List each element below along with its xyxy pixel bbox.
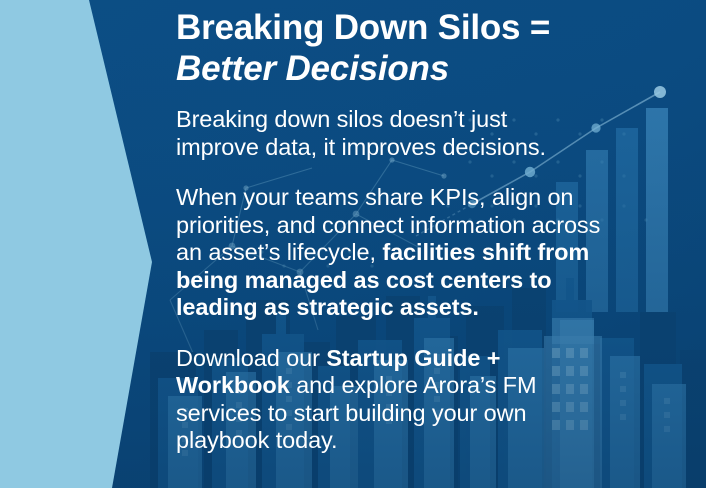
chevron-shape <box>0 0 152 488</box>
body-paragraph-1: Breaking down silos doesn’t just improve… <box>176 106 576 161</box>
content-column: Breaking Down Silos = Better Decisions B… <box>176 0 646 488</box>
promo-banner: Breaking Down Silos = Better Decisions B… <box>0 0 706 488</box>
paragraph-3-lead: Download our <box>176 345 326 371</box>
page-title: Breaking Down Silos = Better Decisions <box>176 0 646 89</box>
body-paragraph-2: When your teams share KPIs, align on pri… <box>176 184 608 322</box>
body-paragraph-3: Download our Startup Guide + Workbook an… <box>176 345 596 455</box>
paragraph-1-text: Breaking down silos doesn’t just improve… <box>176 106 546 160</box>
headline-line-2: Better Decisions <box>176 48 646 89</box>
headline-line-1: Breaking Down Silos = <box>176 8 646 48</box>
